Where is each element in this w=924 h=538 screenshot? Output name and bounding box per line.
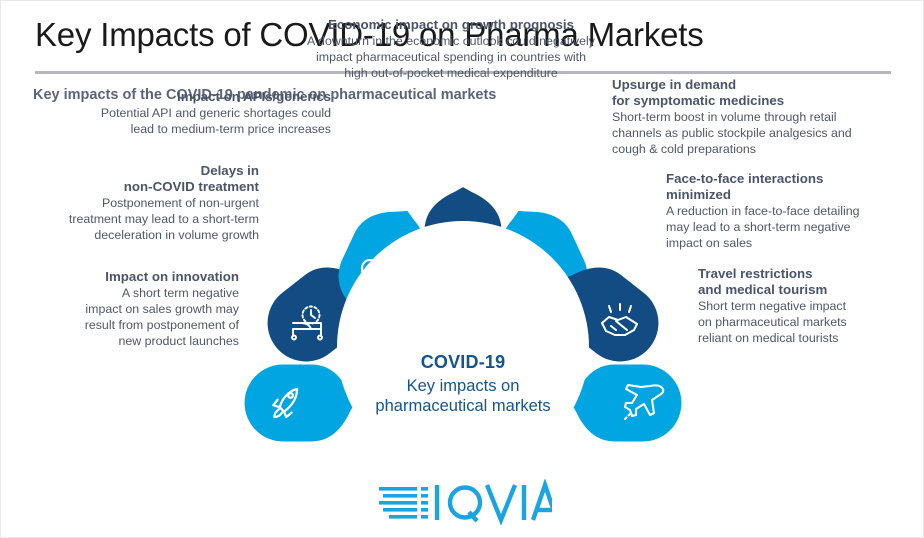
callout-upsurge-in-demand-for-symptomatic-medicines: Upsurge in demand for symptomatic medici…	[612, 77, 902, 158]
center-line-1: Key impacts on	[337, 376, 589, 397]
iqvia-logo	[377, 479, 552, 525]
callout-body: A downturn in the economic outlook could…	[251, 34, 651, 82]
callout-body: Potential API and generic shortages coul…	[37, 106, 331, 138]
callout-title: Impact on innovation	[21, 269, 239, 285]
callout-title: Upsurge in demand for symptomatic medici…	[612, 77, 902, 109]
callout-body: Short-term boost in volume through retai…	[612, 110, 902, 158]
center-label: COVID-19 Key impacts on pharmaceutical m…	[337, 351, 589, 417]
center-line-2: pharmaceutical markets	[337, 396, 589, 417]
logo-wordmark	[437, 485, 552, 521]
callout-body: Short term negative impact on pharmaceut…	[698, 299, 908, 347]
callout-travel-restrictions-and-medical-tourism: Travel restrictions and medical tourism …	[698, 266, 908, 347]
callout-title: Delays in non-COVID treatment	[37, 163, 259, 195]
callout-body: A reduction in face-to-face detailing ma…	[666, 204, 906, 252]
callout-impact-on-innovation: Impact on innovation A short term negati…	[21, 269, 239, 350]
callout-impact-on-apis-generics: Impact on APIs/generics Potential API an…	[37, 89, 331, 138]
callout-economic-impact-on-growth-prognosis: Economic impact on growth prognosis A do…	[251, 17, 651, 82]
infographic-slide: Key Impacts of COVID-19 on Pharma Market…	[0, 0, 924, 538]
center-heading: COVID-19	[337, 351, 589, 374]
callout-title: Impact on APIs/generics	[37, 89, 331, 105]
logo-bars-icon	[379, 487, 428, 519]
callout-body: A short term negative impact on sales gr…	[21, 286, 239, 350]
callout-body: Postponement of non-urgent treatment may…	[37, 196, 259, 244]
center-circle-mask	[337, 221, 589, 471]
callout-title: Travel restrictions and medical tourism	[698, 266, 908, 298]
iqvia-logo-svg	[377, 479, 552, 525]
callout-delays-in-non-covid-treatment: Delays in non-COVID treatment Postponeme…	[37, 163, 259, 244]
callout-title: Face-to-face interactions minimized	[666, 171, 906, 203]
callout-title: Economic impact on growth prognosis	[251, 17, 651, 33]
callout-face-to-face-interactions-minimized: Face-to-face interactions minimized A re…	[666, 171, 906, 252]
